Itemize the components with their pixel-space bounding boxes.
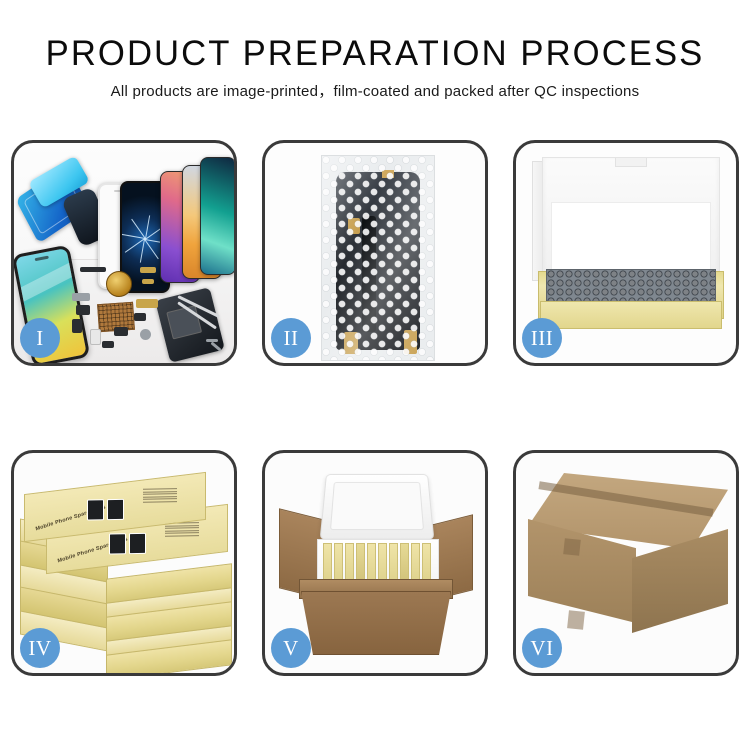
step-badge-5: V <box>271 628 311 668</box>
yellow-box-front-panel <box>540 301 722 329</box>
box-spec-lines <box>143 488 177 504</box>
spare-part-bit <box>134 313 146 321</box>
white-foam-lid <box>542 157 720 281</box>
vibration-motor-icon <box>106 271 132 297</box>
spare-part-bit <box>72 293 90 301</box>
carton-front-panel <box>301 591 451 655</box>
gray-bubble-wrap-padding <box>546 269 716 305</box>
bubble-wrap-package <box>321 155 435 361</box>
spare-part-bit <box>140 267 156 273</box>
spare-part-bit <box>80 267 106 272</box>
crack-pattern-icon <box>145 239 146 240</box>
box-artwork-thumbnails <box>87 499 124 521</box>
spare-part-bit <box>102 341 114 348</box>
spare-part-bit <box>142 279 154 284</box>
foam-lid-open <box>320 474 435 540</box>
process-step-3: III <box>513 140 739 366</box>
spare-part-bit <box>136 299 158 308</box>
process-step-1: I <box>11 140 237 366</box>
spare-part-bit <box>72 319 82 333</box>
process-step-4: Mobile Phone Spare Parts Mobile Phone Sp… <box>11 450 237 676</box>
spare-part-bit <box>76 305 90 315</box>
process-step-6: VI <box>513 450 739 676</box>
step-badge-2: II <box>271 318 311 358</box>
process-step-2: II <box>262 140 488 366</box>
box-artwork-thumbnails <box>109 533 146 555</box>
step-4-image: Mobile Phone Spare Parts Mobile Phone Sp… <box>14 453 234 673</box>
page-subtitle: All products are image-printed，film-coat… <box>0 80 750 101</box>
spare-part-bit <box>114 327 128 336</box>
step-3-image: III <box>516 143 736 363</box>
step-badge-6: VI <box>522 628 562 668</box>
process-steps-grid: I II <box>11 140 739 676</box>
plastic-sheen <box>322 156 434 360</box>
carton-tape-patch <box>567 610 585 630</box>
lid-notch <box>615 158 647 167</box>
tweezers-icon <box>176 285 230 331</box>
step-2-image: II <box>265 143 485 363</box>
process-step-5: V <box>262 450 488 676</box>
step-badge-3: III <box>522 318 562 358</box>
carton-right-face <box>632 529 728 633</box>
product-preparation-infographic: PRODUCT PREPARATION PROCESS All products… <box>0 0 750 750</box>
teal-gradient-screen-icon <box>200 157 234 275</box>
box-spec-lines <box>165 522 199 538</box>
spare-part-bit <box>140 329 151 340</box>
step-6-image: VI <box>516 453 736 673</box>
spare-part-bit <box>90 329 101 345</box>
carton-tape-patch <box>563 538 581 556</box>
step-1-image: I <box>14 143 234 363</box>
step-badge-4: IV <box>20 628 60 668</box>
step-5-image: V <box>265 453 485 673</box>
header: PRODUCT PREPARATION PROCESS All products… <box>0 34 750 101</box>
page-title: PRODUCT PREPARATION PROCESS <box>4 34 747 74</box>
step-badge-1: I <box>20 318 60 358</box>
